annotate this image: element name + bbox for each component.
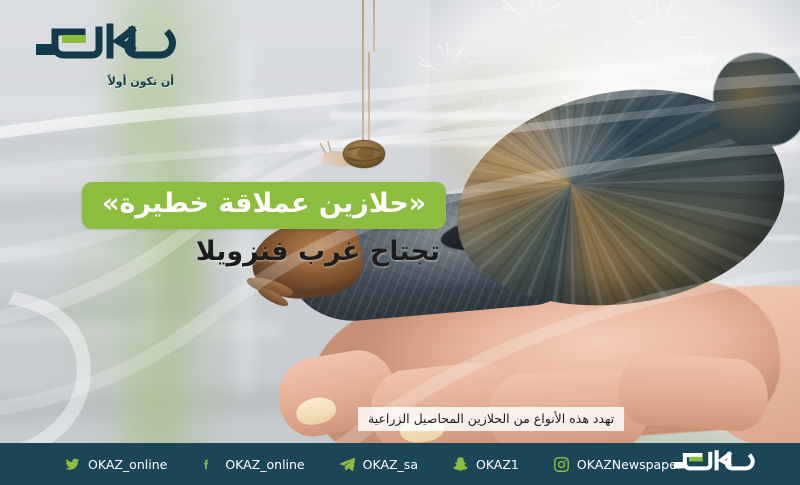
social-handle: OKAZ1 [476, 457, 519, 472]
social-link-telegram[interactable]: OKAZ_sa [339, 456, 418, 473]
footer-bar: OKAZ_onlineOKAZ_onlineOKAZ_saOKAZ1OKAZNe… [0, 443, 800, 485]
okaz-logo-mark [26, 18, 178, 70]
social-handle: OKAZ_online [88, 457, 167, 472]
facebook-icon [201, 456, 218, 473]
headline-subhead: تجتاح غرب فنزويلا [86, 236, 440, 267]
small-hanging-snail [318, 136, 394, 172]
snail-thread [373, 0, 375, 52]
social-link-facebook[interactable]: OKAZ_online [201, 456, 304, 473]
okaz-logo-mark-white [652, 447, 772, 477]
brand-tagline: أن تكون أولاً [26, 75, 178, 88]
social-link-snapchat[interactable]: OKAZ1 [452, 456, 519, 473]
telegram-icon [339, 456, 356, 473]
social-handle: OKAZ_online [225, 457, 304, 472]
photo-caption: تهدد هذه الأنواع من الحلازين المحاصيل ال… [358, 407, 624, 431]
snail-thread [362, 0, 364, 148]
headline-block: «حلازين عملاقة خطيرة» تجتاح غرب فنزويلا [0, 182, 440, 267]
footer-okaz-logo[interactable] [652, 447, 772, 481]
social-links: OKAZ_onlineOKAZ_onlineOKAZ_saOKAZ1OKAZNe… [0, 456, 716, 473]
social-handle: OKAZ_sa [363, 457, 418, 472]
social-link-twitter[interactable]: OKAZ_online [64, 456, 167, 473]
headline-badge: «حلازين عملاقة خطيرة» [82, 182, 446, 229]
brand-logo[interactable]: أن تكون أولاً [26, 18, 178, 88]
instagram-icon [553, 456, 570, 473]
poster: أن تكون أولاً «حلازين عملاقة خطيرة» تجتا… [0, 0, 800, 485]
twitter-icon [64, 456, 81, 473]
snail-thread [368, 52, 370, 148]
snapchat-icon [452, 456, 469, 473]
